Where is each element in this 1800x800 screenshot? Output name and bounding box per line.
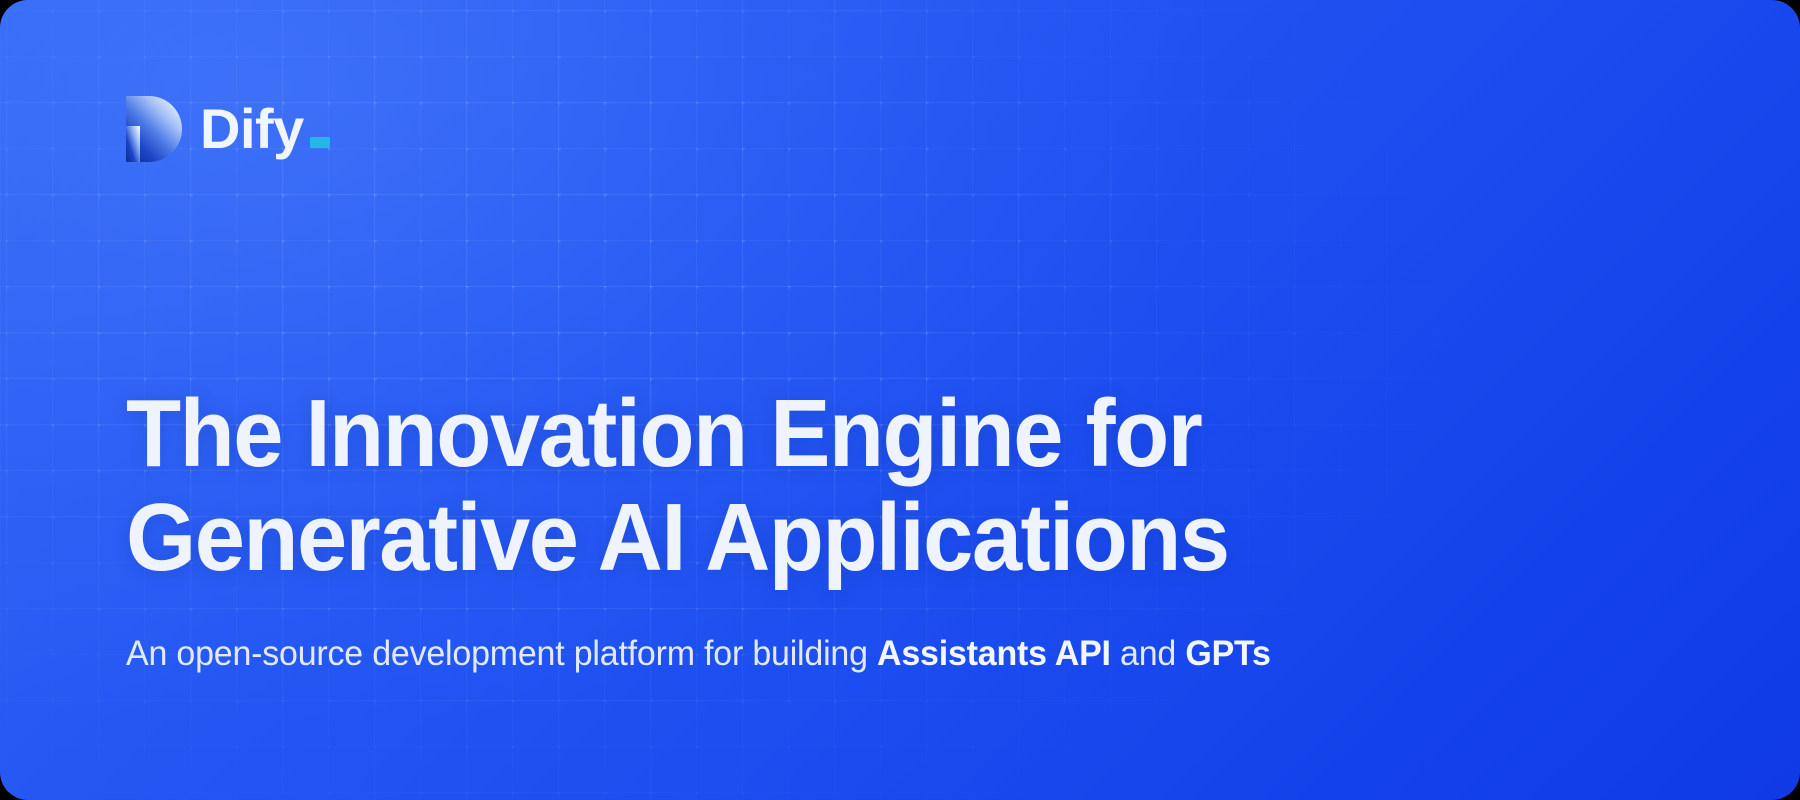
hero-banner: Dify The Innovation Engine for Generativ… xyxy=(0,0,1800,800)
dify-accent-dash xyxy=(310,137,330,148)
subtitle-emphasis-3: GPTs xyxy=(1185,634,1270,673)
dify-logo-lockup[interactable]: Dify xyxy=(126,96,330,162)
subtitle-emphasis-1: Assistants API xyxy=(877,634,1111,673)
headline-line-1: The Innovation Engine for xyxy=(126,382,1229,486)
headline-line-2: Generative AI Applications xyxy=(126,486,1229,590)
hero-subtitle: An open-source development platform for … xyxy=(126,632,1271,676)
dify-wordmark-text: Dify xyxy=(200,101,304,157)
hero-content: Dify The Innovation Engine for Generativ… xyxy=(0,0,1800,800)
dify-wordmark: Dify xyxy=(200,101,330,157)
subtitle-text-0: An open-source development platform for … xyxy=(126,634,877,673)
dify-d-mark-icon xyxy=(126,96,182,162)
hero-headline: The Innovation Engine for Generative AI … xyxy=(126,382,1229,589)
subtitle-text-2: and xyxy=(1111,634,1186,673)
